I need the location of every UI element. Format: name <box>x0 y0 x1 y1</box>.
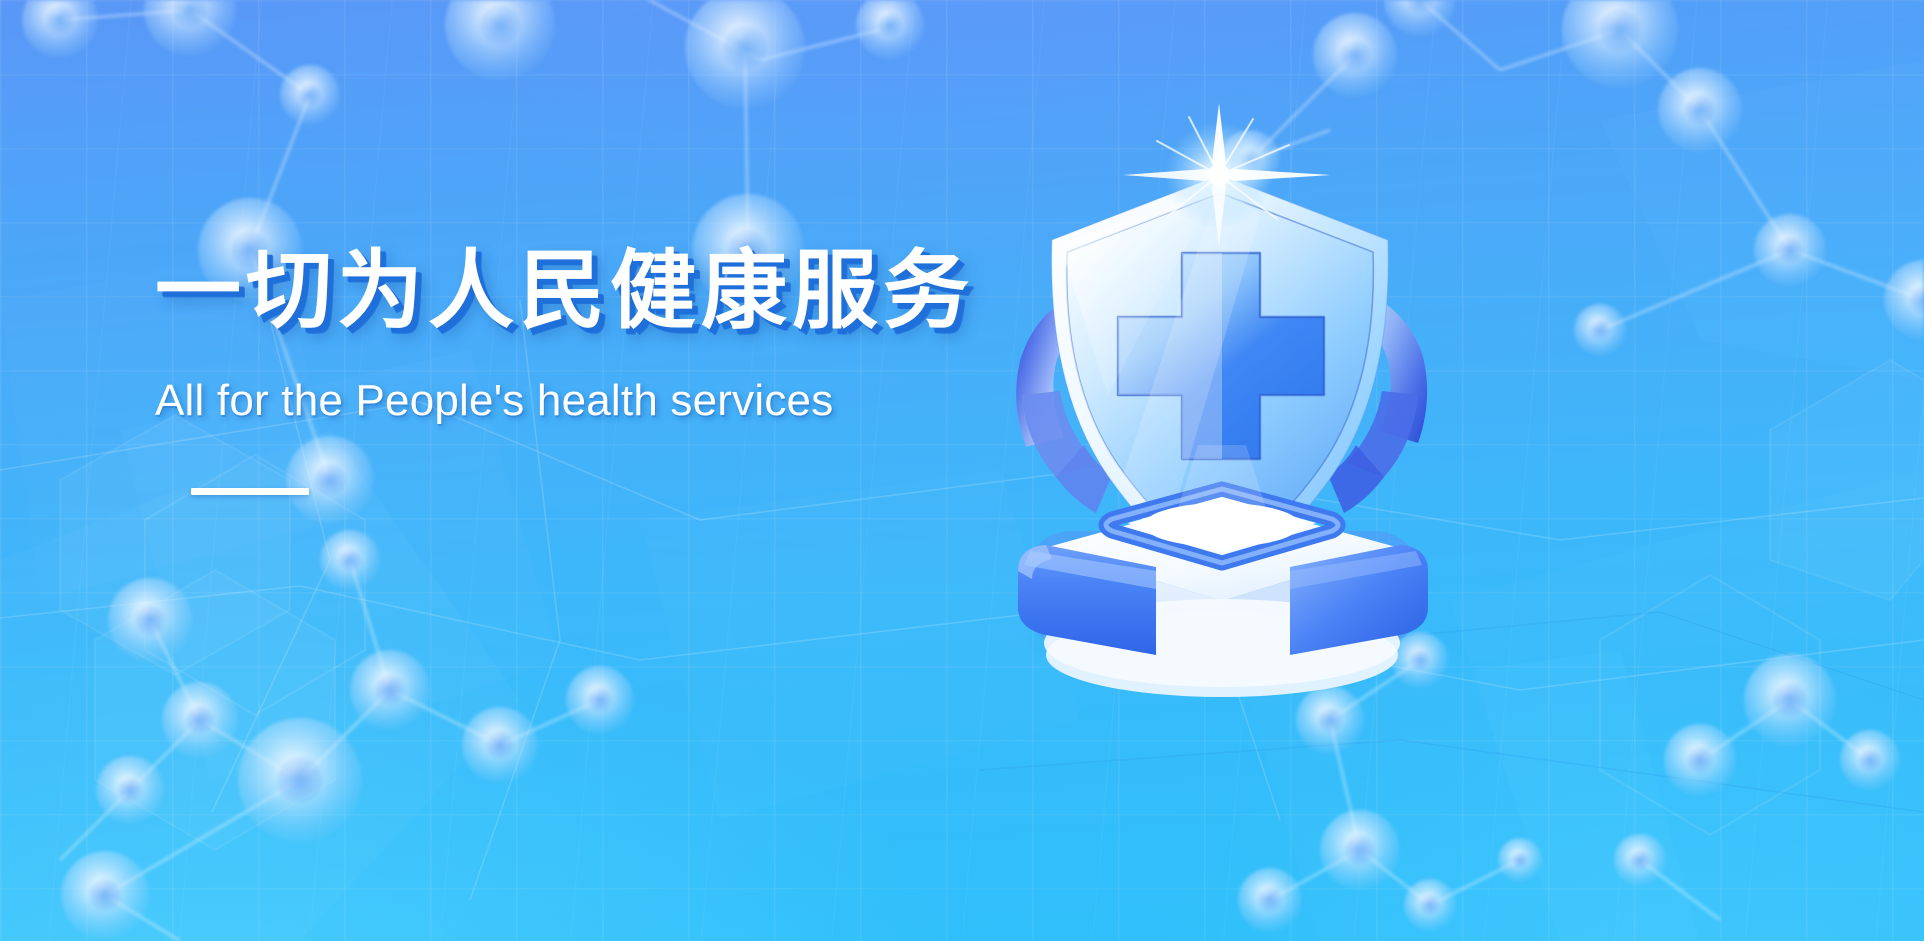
health-banner: 一切为人民健康服务 All for the People's health se… <box>0 0 1924 941</box>
banner-copy: 一切为人民健康服务 All for the People's health se… <box>155 246 1075 495</box>
accent-divider <box>191 488 309 495</box>
headline-chinese: 一切为人民健康服务 <box>155 246 1075 337</box>
subheadline-english: All for the People's health services <box>155 377 1075 425</box>
